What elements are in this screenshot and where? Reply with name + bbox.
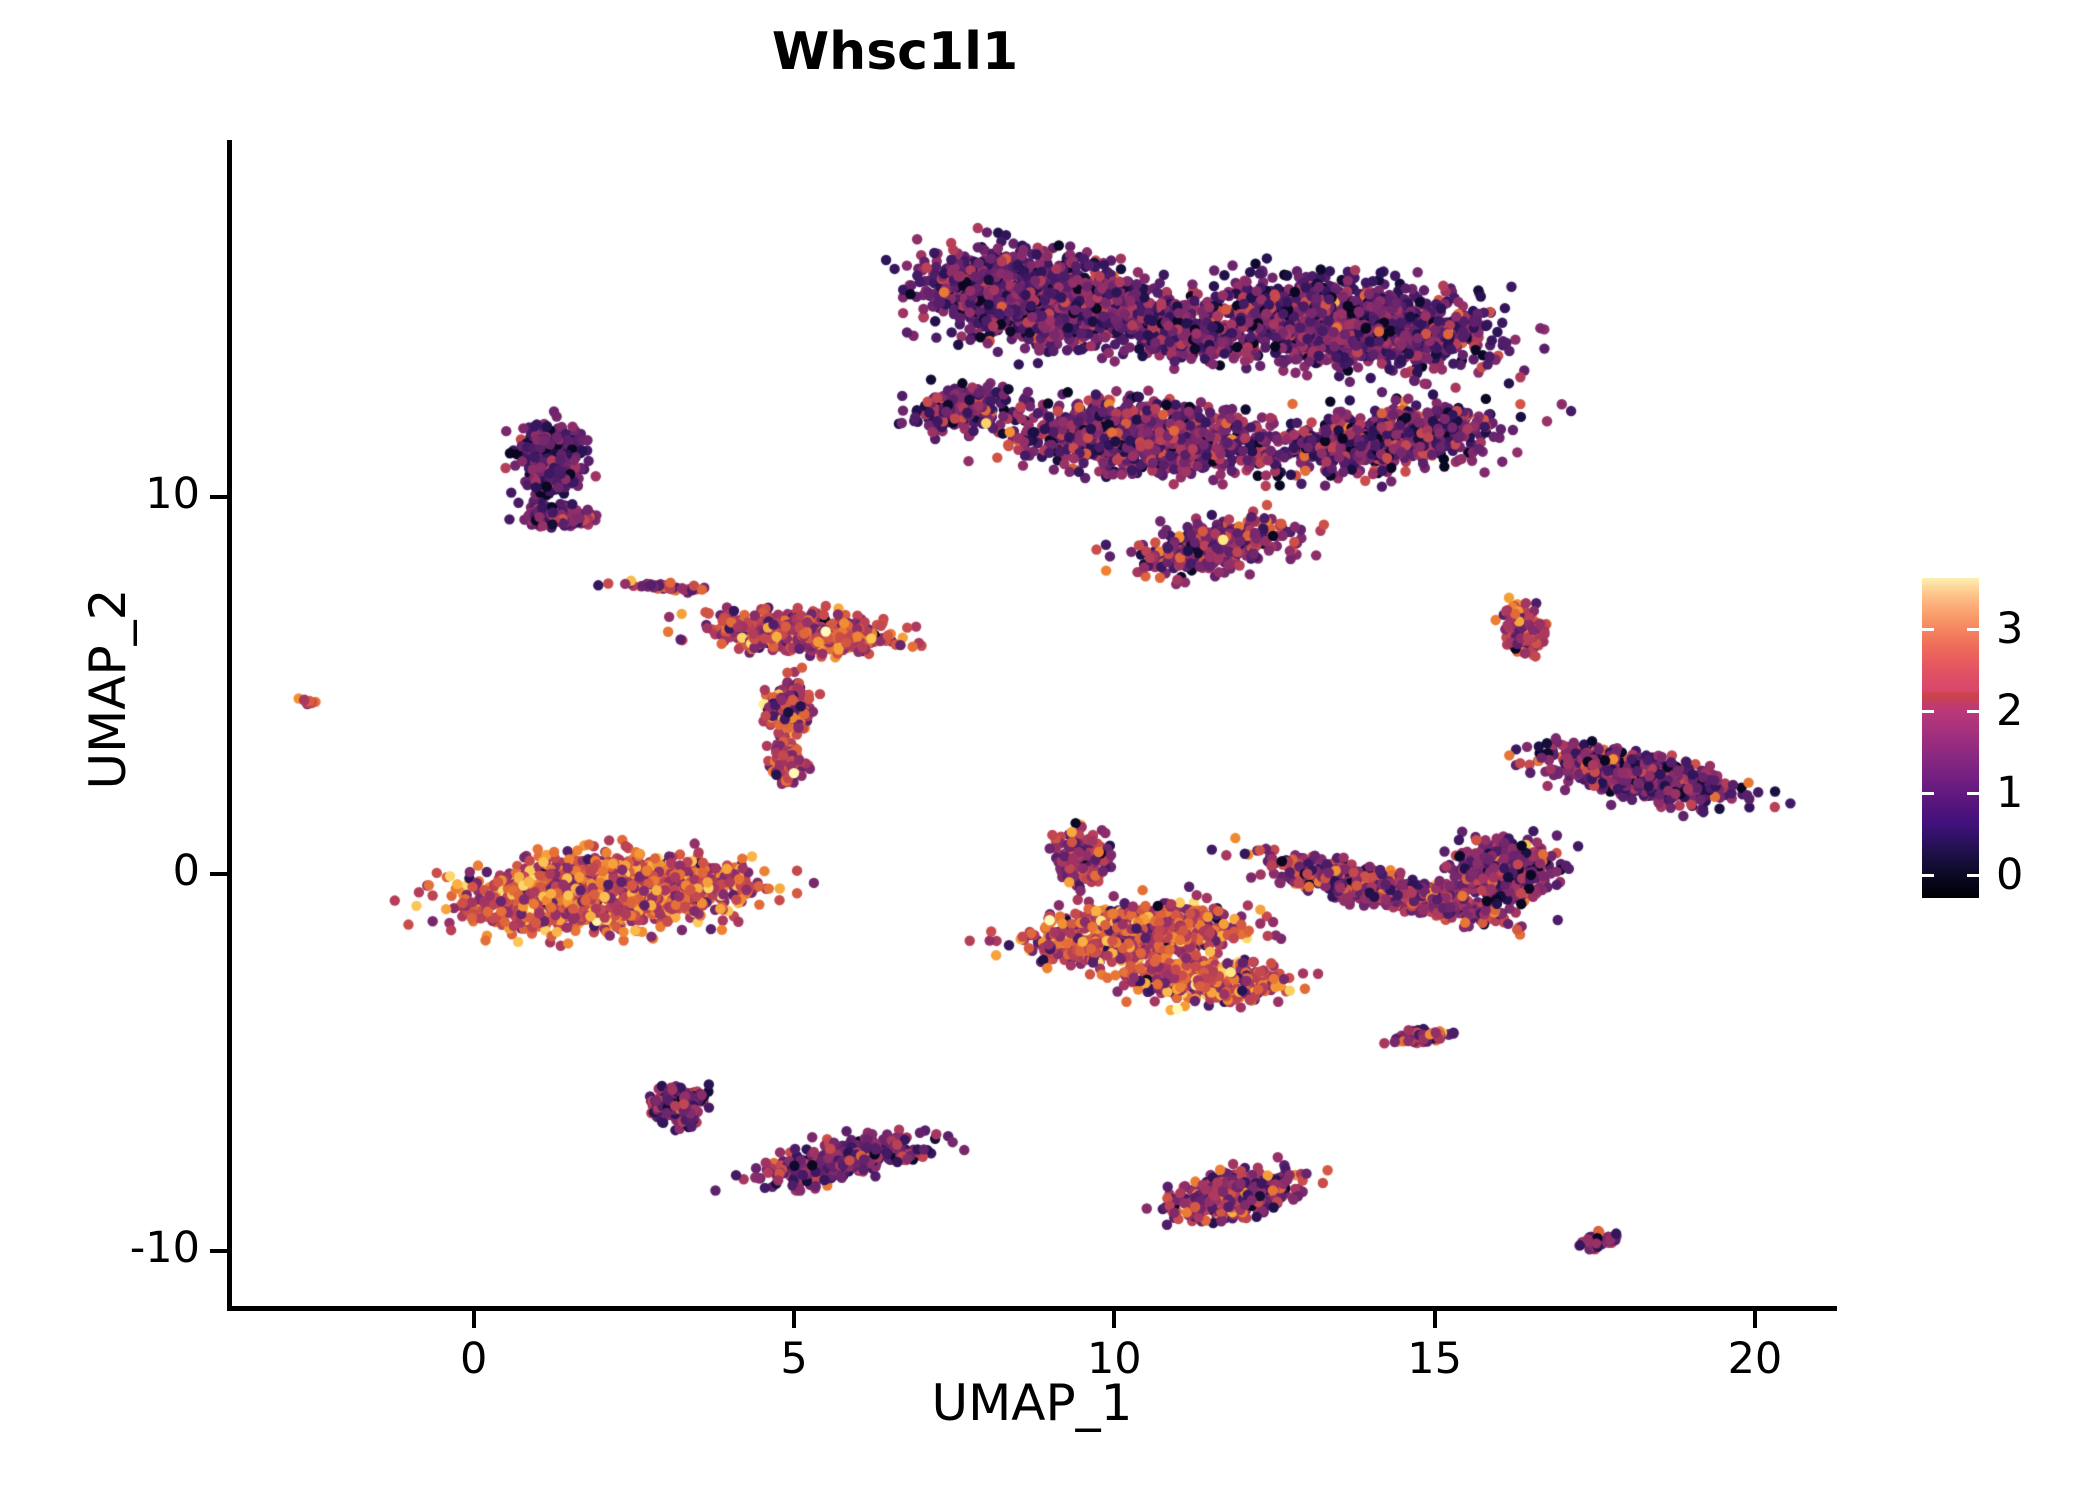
y-tick-mark (210, 872, 227, 876)
x-tick-mark (1112, 1311, 1116, 1328)
x-axis-label: UMAP_1 (229, 1374, 1835, 1432)
colorbar-tick-mark (1967, 710, 1979, 713)
colorbar-tick-mark (1967, 792, 1979, 795)
plot-area (229, 142, 1835, 1308)
colorbar-tick-label: 0 (1996, 850, 2023, 900)
x-axis-spine (227, 1306, 1837, 1311)
y-tick-label: -10 (20, 1223, 200, 1273)
figure-root: Whsc1l1 -10010 05101520 UMAP_1 UMAP_2 01… (0, 0, 2100, 1500)
y-axis-spine (227, 140, 232, 1311)
page-title: Whsc1l1 (0, 22, 1790, 82)
y-tick-mark (210, 495, 227, 499)
colorbar-tick-mark (1967, 628, 1979, 631)
colorbar-tick-label: 1 (1996, 768, 2023, 818)
x-tick-mark (792, 1311, 796, 1328)
colorbar-tick-label: 2 (1996, 686, 2023, 736)
y-axis-label: UMAP_2 (79, 289, 137, 1089)
colorbar-tick-mark (1922, 792, 1934, 795)
x-tick-mark (1433, 1311, 1437, 1328)
x-tick-mark (472, 1311, 476, 1328)
scatter-points-canvas (229, 142, 1835, 1308)
colorbar-gradient (1922, 578, 1979, 898)
colorbar-tick-mark (1922, 628, 1934, 631)
colorbar-tick-mark (1922, 710, 1934, 713)
colorbar-tick-label: 3 (1996, 604, 2023, 654)
colorbar: 0123 (1922, 578, 1979, 898)
colorbar-tick-mark (1922, 874, 1934, 877)
y-tick-mark (210, 1249, 227, 1253)
colorbar-tick-mark (1967, 874, 1979, 877)
x-tick-mark (1753, 1311, 1757, 1328)
